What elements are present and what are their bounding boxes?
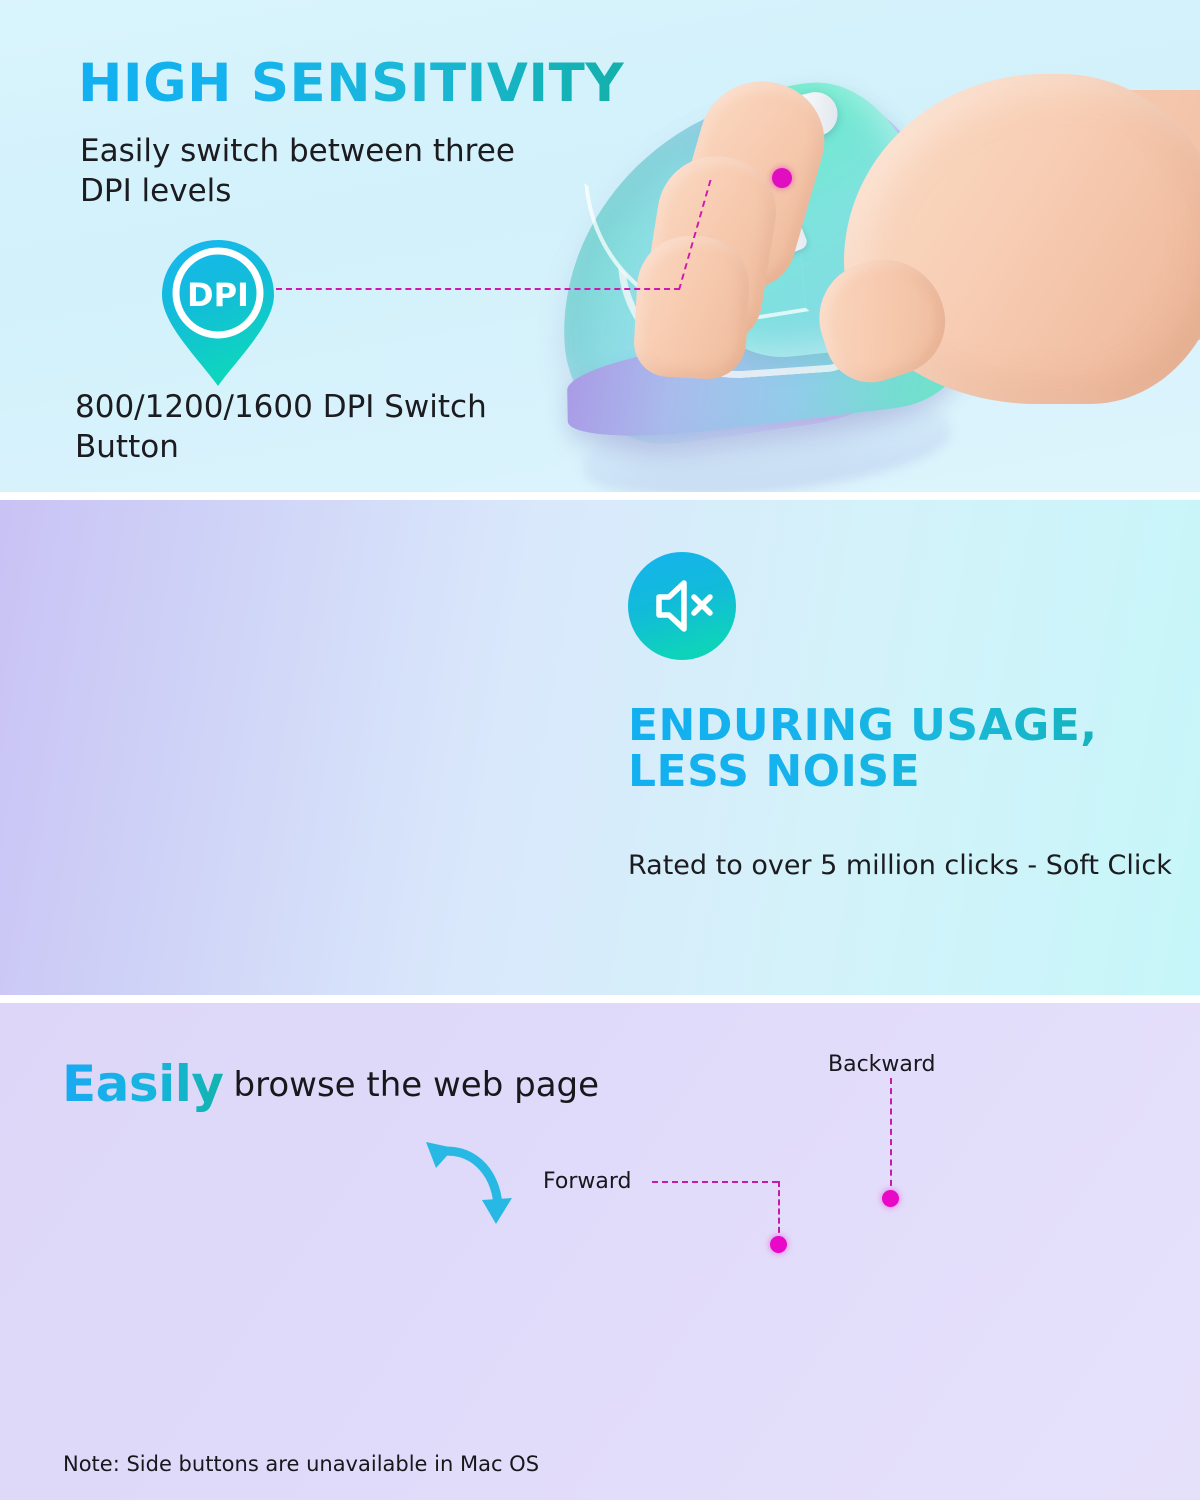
backward-leader-line bbox=[890, 1078, 892, 1196]
noise-title: ENDURING USAGE, LESS NOISE bbox=[628, 703, 1188, 795]
hand-illustration bbox=[648, 64, 1200, 464]
page-title: HIGH SENSITIVITY bbox=[78, 56, 624, 111]
browse-heading: Easilybrowse the web page bbox=[62, 1055, 599, 1113]
map-pin-icon: DPI bbox=[160, 238, 276, 388]
noise-subtitle: Rated to over 5 million clicks - Soft Cl… bbox=[628, 849, 1173, 884]
label-forward: Forward bbox=[543, 1169, 631, 1194]
browse-heading-rest: browse the web page bbox=[234, 1065, 600, 1105]
panel-divider bbox=[0, 492, 1200, 500]
dpi-caption: 800/1200/1600 DPI Switch Button bbox=[75, 388, 495, 467]
mouse-in-hand-photo bbox=[530, 70, 1200, 492]
pin-label: DPI bbox=[187, 276, 249, 314]
mute-speaker-icon bbox=[628, 552, 736, 660]
forward-leader-line-vertical bbox=[778, 1181, 780, 1242]
curved-double-arrow-icon bbox=[420, 1128, 530, 1228]
forward-leader-line-horizontal bbox=[652, 1181, 778, 1183]
forward-button-marker bbox=[770, 1236, 787, 1253]
panel-divider bbox=[0, 995, 1200, 1003]
panel-high-sensitivity: HIGH SENSITIVITY Easily switch between t… bbox=[0, 0, 1200, 492]
ring-finger bbox=[632, 233, 751, 381]
backward-button-marker bbox=[882, 1190, 899, 1207]
sensitivity-subtitle: Easily switch between three DPI levels bbox=[80, 132, 550, 211]
product-feature-page: HIGH SENSITIVITY Easily switch between t… bbox=[0, 0, 1200, 1500]
dpi-leader-line-horizontal bbox=[276, 288, 680, 290]
dpi-button-marker bbox=[772, 168, 792, 188]
browse-heading-accent: Easily bbox=[62, 1055, 224, 1113]
compatibility-note: Note: Side buttons are unavailable in Ma… bbox=[63, 1452, 539, 1476]
label-backward: Backward bbox=[828, 1052, 936, 1077]
